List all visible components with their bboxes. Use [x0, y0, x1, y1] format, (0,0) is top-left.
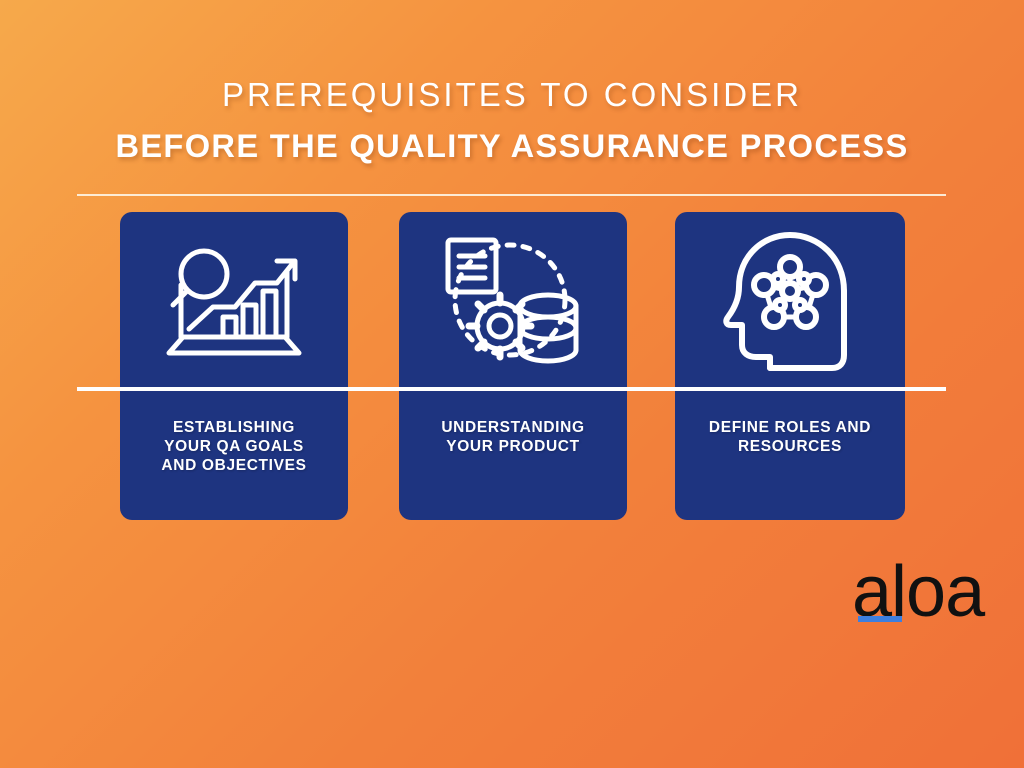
card-label-line: AND OBJECTIVES [130, 456, 338, 475]
card-icon-area [120, 212, 348, 390]
card-label-line: ESTABLISHING [130, 418, 338, 437]
head-network-icon [720, 229, 860, 374]
aloa-logo[interactable]: aloa [852, 556, 992, 636]
laptop-chart-magnifier-icon [155, 241, 313, 361]
card-label: UNDERSTANDING YOUR PRODUCT [399, 418, 627, 456]
card-icon-area [675, 212, 905, 390]
card-define-roles-resources[interactable]: DEFINE ROLES AND RESOURCES [675, 212, 905, 520]
card-label-line: RESOURCES [685, 437, 895, 456]
logo-accent-bar [858, 616, 902, 622]
card-label-line: DEFINE ROLES AND [685, 418, 895, 437]
card-label-line: UNDERSTANDING [409, 418, 617, 437]
page-title-line-1: PREREQUISITES TO CONSIDER [0, 74, 1024, 116]
card-understanding-product[interactable]: UNDERSTANDING YOUR PRODUCT [399, 212, 627, 520]
card-establishing-qa-goals[interactable]: ESTABLISHING YOUR QA GOALS AND OBJECTIVE… [120, 212, 348, 520]
page-title-line-2: BEFORE THE QUALITY ASSURANCE PROCESS [0, 124, 1024, 168]
divider-middle [77, 387, 946, 391]
page-title-block: PREREQUISITES TO CONSIDER BEFORE THE QUA… [0, 74, 1024, 168]
card-row: ESTABLISHING YOUR QA GOALS AND OBJECTIVE… [0, 212, 1024, 522]
card-label-line: YOUR QA GOALS [130, 437, 338, 456]
divider-top [77, 194, 946, 196]
card-label-line: YOUR PRODUCT [409, 437, 617, 456]
card-label: DEFINE ROLES AND RESOURCES [675, 418, 905, 456]
document-gear-database-icon [438, 234, 588, 369]
card-label: ESTABLISHING YOUR QA GOALS AND OBJECTIVE… [120, 418, 348, 475]
card-icon-area [399, 212, 627, 390]
